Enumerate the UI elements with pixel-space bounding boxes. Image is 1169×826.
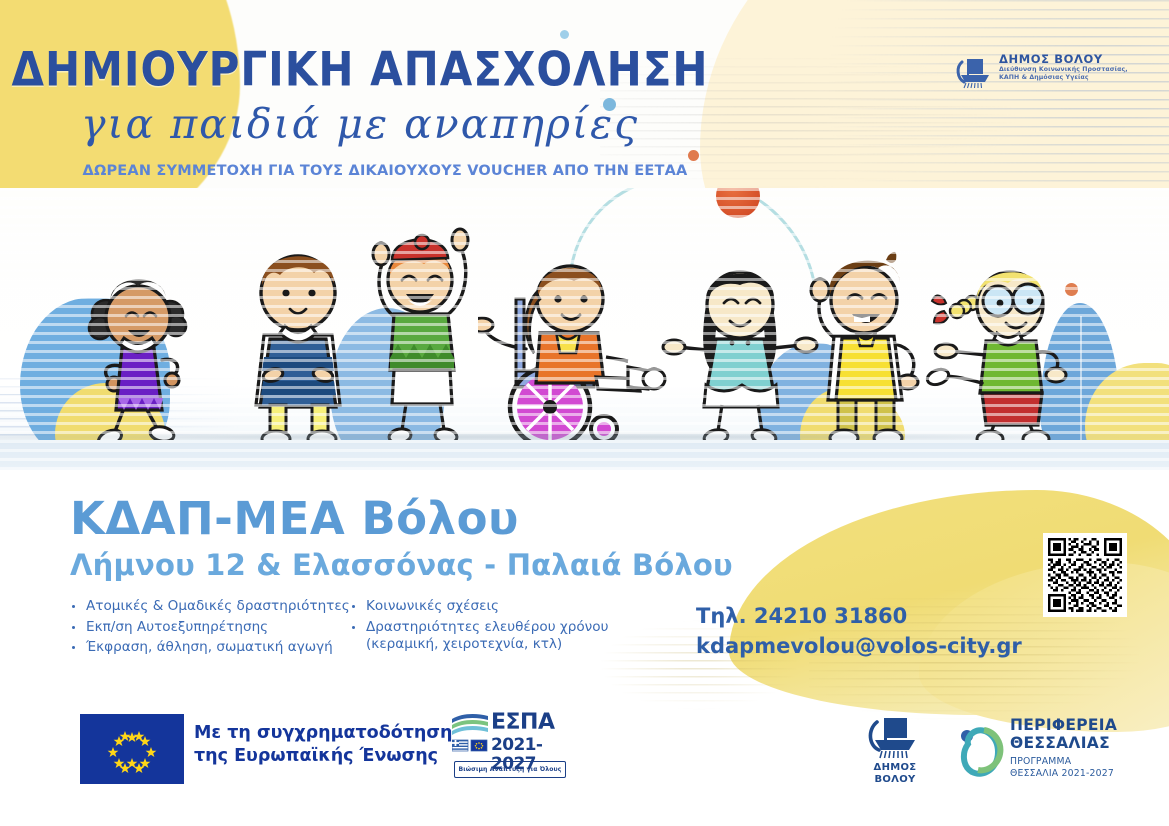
poster-root: ΔΗΜΙΟΥΡΓΙΚΗ ΑΠΑΣΧΟΛΗΣΗ για παιδιά με ανα… — [0, 0, 1169, 826]
thessaly-ribbon-icon — [958, 718, 1004, 780]
municipality-logo-name: ΔΗΜΟΣ ΒΟΛΟΥ — [999, 52, 1128, 66]
municipality-logo-subtitle-1: Διεύθυνση Κοινωνικής Προστασίας, — [999, 66, 1128, 74]
poster-headline-note: ΔΩΡΕΑΝ ΣΥΜΜΕΤΟΧΗ ΓΙΑ ΤΟΥΣ ΔΙΚΑΙΟΥΧΟΥΣ VO… — [0, 163, 770, 179]
region-title-line-2: ΘΕΣΣΑΛΙΑΣ — [1010, 734, 1117, 752]
child-figure-7 — [920, 243, 1095, 448]
child-figure-2 — [228, 227, 368, 452]
center-address: Λήμνου 12 & Ελασσόνας - Παλαιά Βόλου — [70, 548, 733, 582]
region-subtitle: ΠΡΟΓΡΑΜΜΑ ΘΕΣΣΑΛΙΑ 2021-2027 — [1010, 756, 1114, 779]
contact-block: Τηλ. 24210 31860 kdapmevolou@volos-city.… — [696, 601, 1022, 661]
municipality-logo: ΔΗΜΟΣ ΒΟΛΟΥ Διεύθυνση Κοινωνικής Προστασ… — [955, 52, 1135, 100]
ship-icon — [955, 54, 995, 92]
list-item: Ατομικές & Ομαδικές δραστηριότητες — [68, 598, 353, 616]
qr-code[interactable] — [1043, 533, 1127, 617]
ground-band — [0, 440, 1169, 470]
child-figure-3 — [348, 208, 488, 448]
child-figure-6 — [790, 232, 940, 452]
region-title: ΠΕΡΙΦΕΡΕΙΑ ΘΕΣΣΑΛΙΑΣ — [1010, 716, 1117, 752]
volos-municipality-footer-logo: ΔΗΜΟΣ ΒΟΛΟΥ — [855, 712, 935, 788]
eu-cofunding-text: Με τη συγχρηματοδότηση της Ευρωπαϊκής Έν… — [194, 722, 452, 768]
contact-email[interactable]: kdapmevolou@volos-city.gr — [696, 631, 1022, 661]
children-illustration — [0, 188, 1169, 470]
espa-flags-icon — [452, 739, 488, 753]
qr-code-icon — [1048, 538, 1122, 612]
contact-phone[interactable]: Τηλ. 24210 31860 — [696, 601, 1022, 631]
list-item: Εκπ/ση Αυτοεξυπηρέτησης — [68, 619, 353, 637]
ship-icon — [867, 712, 923, 762]
poster-headline-main: ΔΗΜΙΟΥΡΓΙΚΗ ΑΠΑΣΧΟΛΗΣΗ — [0, 42, 720, 97]
municipality-logo-subtitle-2: ΚΑΠΗ & Δημόσιας Υγείας — [999, 74, 1128, 82]
poster-headline-subtitle: για παιδιά με αναπηρίες — [0, 100, 720, 148]
region-subtitle-line-2: ΘΕΣΣΑΛΙΑ 2021-2027 — [1010, 768, 1114, 780]
decorative-dot-orange — [688, 150, 699, 161]
list-item: Δραστηριότητες ελευθέρου χρόνου (κεραμικ… — [348, 619, 628, 654]
espa-waves-icon — [450, 713, 490, 737]
espa-name: ΕΣΠΑ — [491, 711, 555, 735]
region-subtitle-line-1: ΠΡΟΓΡΑΜΜΑ — [1010, 756, 1114, 768]
eu-flag-icon — [80, 714, 184, 784]
services-list-right-items: Κοινωνικές σχέσεις Δραστηριότητες ελευθέ… — [348, 598, 628, 654]
volos-logo-line-1: ΔΗΜΟΣ — [855, 762, 935, 774]
poster-footer: Με τη συγχρηματοδότηση της Ευρωπαϊκής Έν… — [0, 700, 1169, 810]
espa-tagline: Βιώσιμη Ανάπτυξη για Όλους — [454, 761, 566, 778]
decorative-dot-blue — [560, 30, 569, 39]
services-list-left: Ατομικές & Ομαδικές δραστηριότητες Εκπ/σ… — [68, 598, 353, 660]
child-figure-1 — [62, 238, 212, 448]
list-item: Έκφραση, άθληση, σωματική αγωγή — [68, 639, 353, 657]
eu-cofunding-line-2: της Ευρωπαϊκής Ένωσης — [194, 745, 452, 768]
eu-stars-icon — [80, 714, 184, 784]
services-list-right: Κοινωνικές σχέσεις Δραστηριότητες ελευθέ… — [348, 598, 628, 657]
volos-logo-line-2: ΒΟΛΟΥ — [855, 774, 935, 786]
region-thessaly-logo: ΠΕΡΙΦΕΡΕΙΑ ΘΕΣΣΑΛΙΑΣ ΠΡΟΓΡΑΜΜΑ ΘΕΣΣΑΛΙΑ … — [958, 712, 1143, 792]
espa-logo: ΕΣΠΑ 2021-2027 Βιώσιμη Ανάπτυξη για Όλου… — [448, 711, 566, 783]
region-title-line-1: ΠΕΡΙΦΕΡΕΙΑ — [1010, 716, 1117, 734]
child-figure-4-wheelchair — [478, 237, 668, 452]
services-list-left-items: Ατομικές & Ομαδικές δραστηριότητες Εκπ/σ… — [68, 598, 353, 657]
eu-cofunding-line-1: Με τη συγχρηματοδότηση — [194, 722, 452, 745]
center-title: ΚΔΑΠ-ΜΕΑ Βόλου — [70, 492, 519, 545]
list-item: Κοινωνικές σχέσεις — [348, 598, 628, 616]
